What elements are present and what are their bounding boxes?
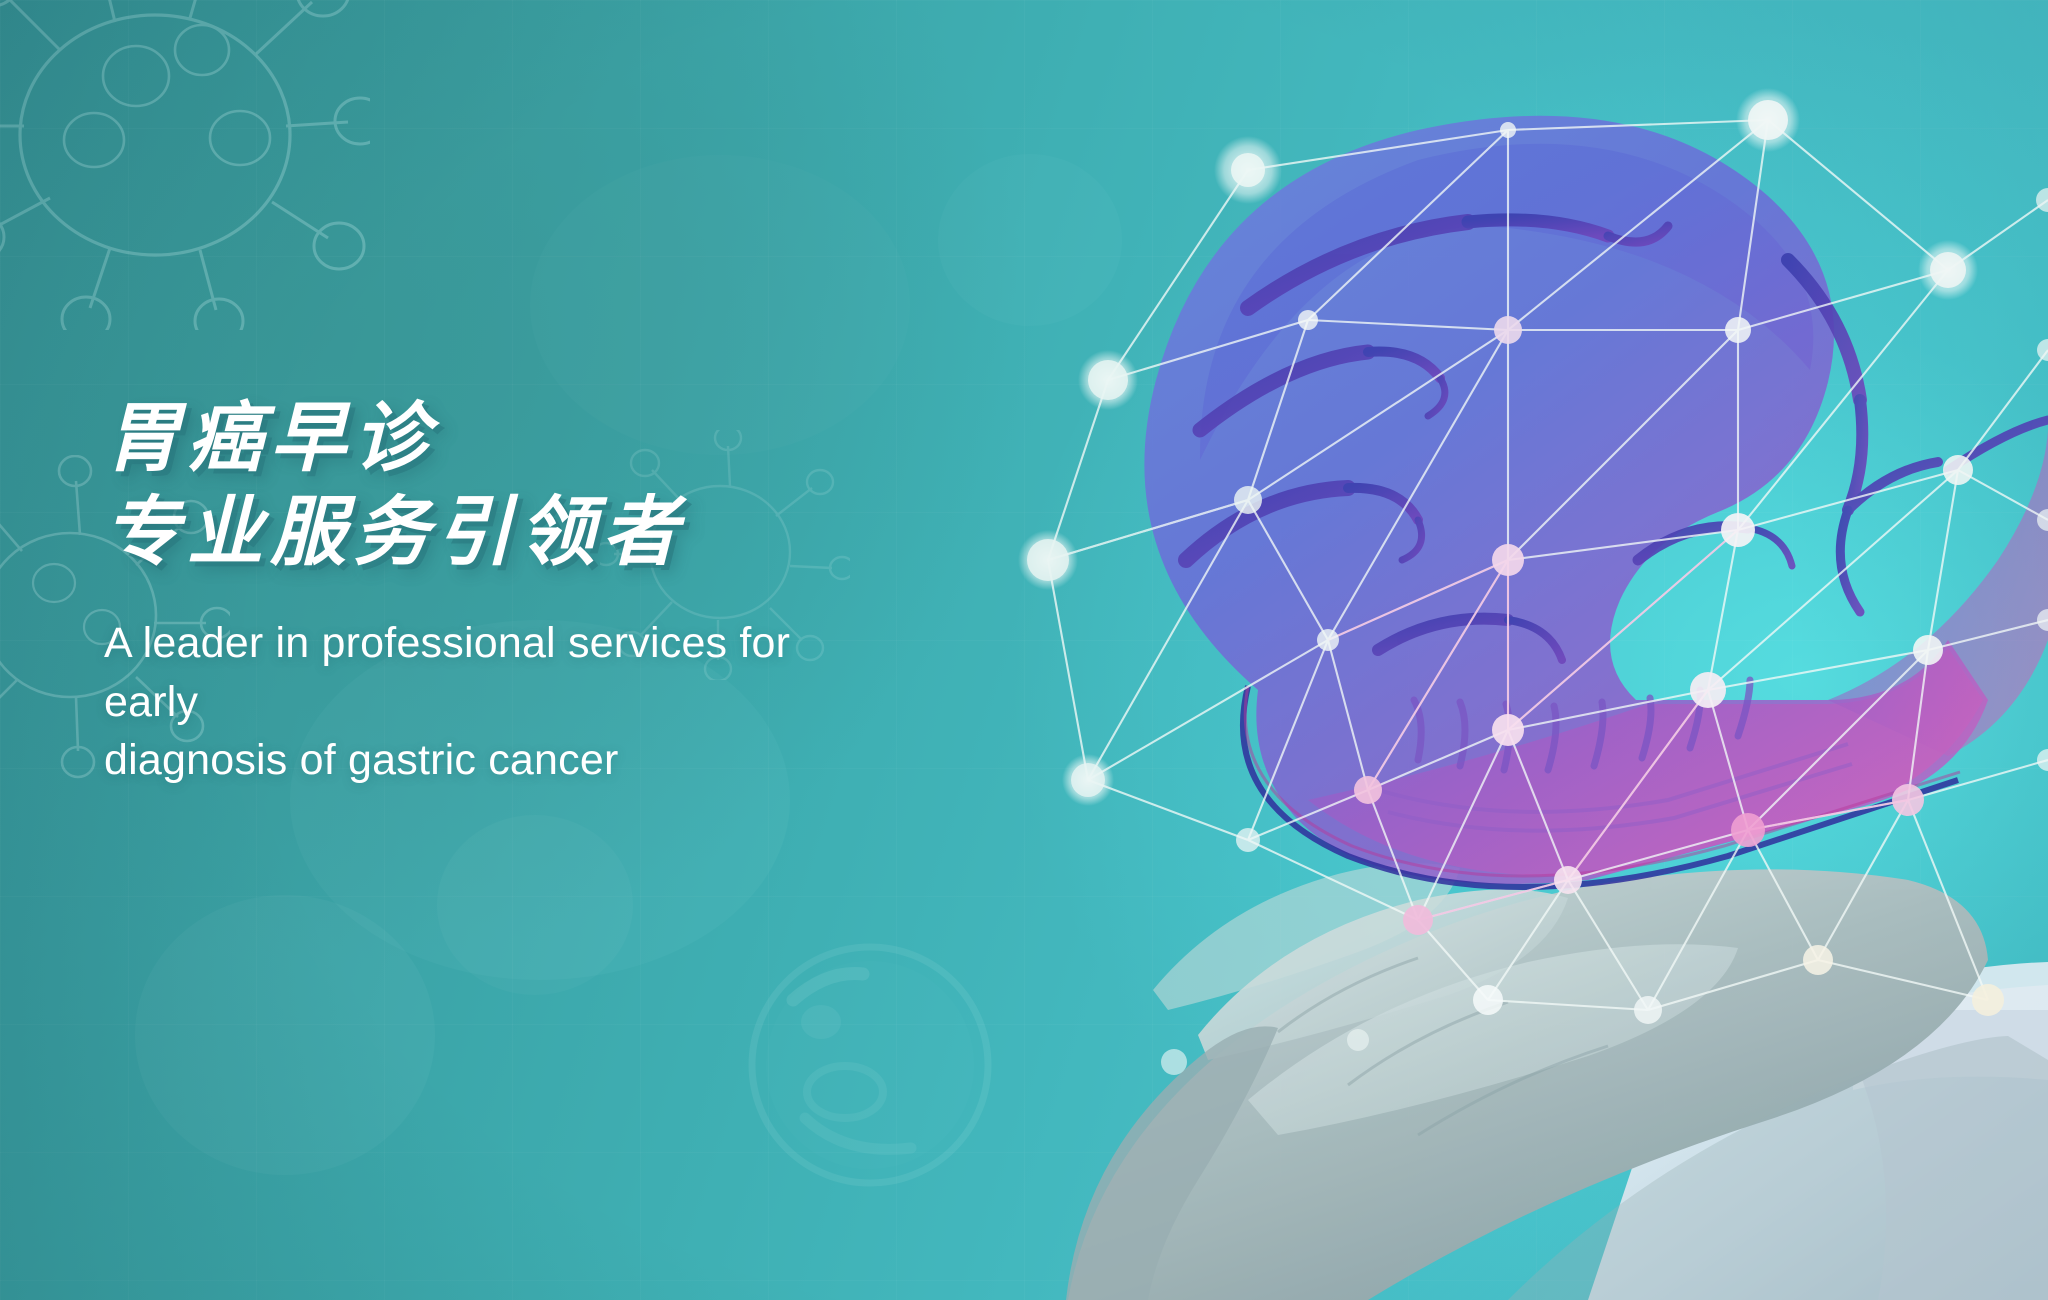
hand-holding-stomach-illustration (948, 0, 2048, 1300)
promo-banner: 胃癌早诊 专业服务引领者 A leader in professional se… (0, 0, 2048, 1300)
subhead-line-2: diagnosis of gastric cancer (104, 731, 894, 789)
headline-line-1: 胃癌早诊 (104, 398, 1104, 480)
banner-copy: 胃癌早诊 专业服务引领者 A leader in professional se… (104, 398, 1104, 790)
open-hand (1066, 863, 2048, 1300)
headline-line-2: 专业服务引领者 (104, 492, 1104, 574)
subhead: A leader in professional services for ea… (104, 614, 894, 789)
subhead-line-1: A leader in professional services for ea… (104, 614, 894, 731)
